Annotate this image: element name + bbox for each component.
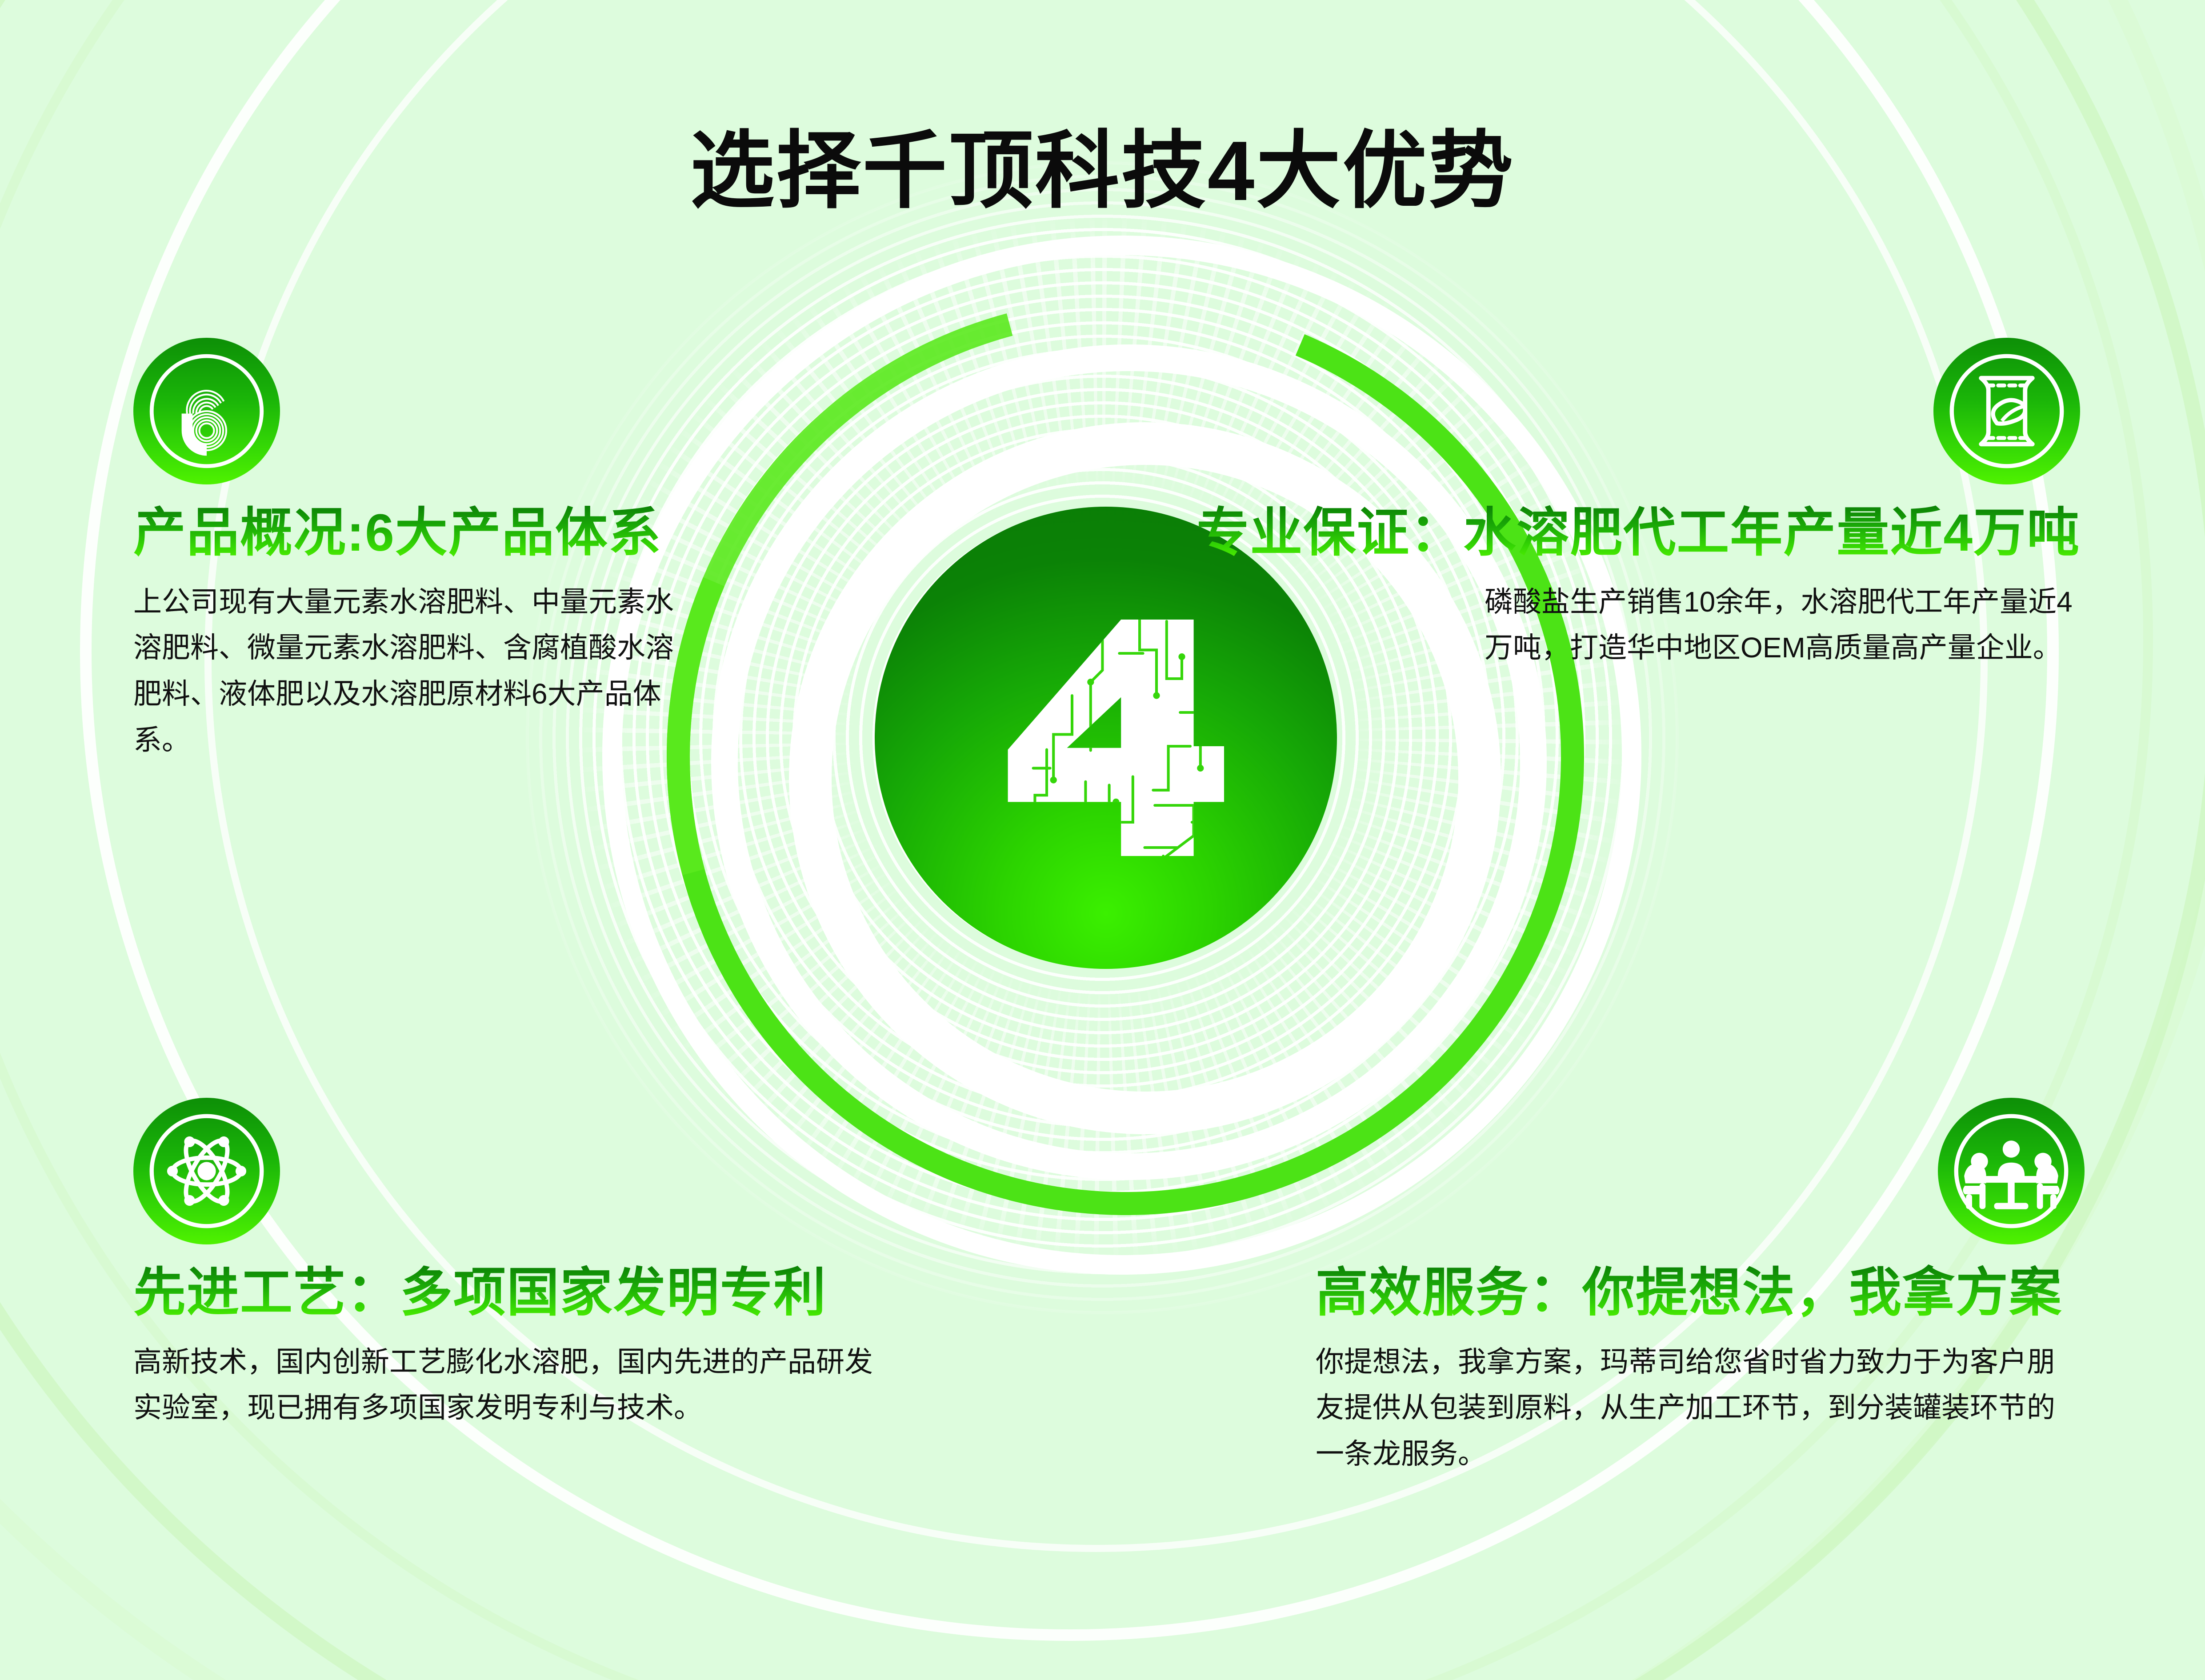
atom-icon (133, 1098, 280, 1244)
advantage-body: 上公司现有大量元素水溶肥料、中量元素水溶肥料、微量元素水溶肥料、含腐植酸水溶肥料… (133, 579, 689, 764)
advantage-heading: 产品概况:6大产品体系 (133, 503, 827, 563)
fertilizer-bag-icon (1933, 338, 2080, 484)
number-six-glyph (133, 338, 280, 484)
advantage-block-top-right: 专业保证：水溶肥代工年产量近4万吨 磷酸盐生产销售10余年，水溶肥代工年产量近4… (1191, 338, 2080, 671)
atom-glyph (133, 1098, 280, 1244)
advantage-body: 你提想法，我拿方案，玛蒂司给您省时省力致力于为客户朋友提供从包装到原料，从生产加… (1316, 1339, 2080, 1477)
advantage-block-bottom-left: 先进工艺：多项国家发明专利 高新技术，国内创新工艺膨化水溶肥，国内先进的产品研发… (133, 1098, 1022, 1431)
advantage-block-bottom-right: 高效服务：你提想法，我拿方案 你提想法，我拿方案，玛蒂司给您省时省力致力于为客户… (1316, 1098, 2085, 1477)
meeting-table-glyph (1938, 1098, 2085, 1244)
meeting-table-icon (1938, 1098, 2085, 1244)
advantage-body: 高新技术，国内创新工艺膨化水溶肥，国内先进的产品研发实验室，现已拥有多项国家发明… (133, 1339, 889, 1431)
fertilizer-bag-glyph (1933, 338, 2080, 484)
advantage-body: 磷酸盐生产销售10余年，水溶肥代工年产量近4万吨，打造华中地区OEM高质量高产量… (1485, 579, 2080, 671)
advantage-heading: 高效服务：你提想法，我拿方案 (1316, 1263, 2085, 1323)
page-title: 选择千顶科技4大优势 (0, 102, 2205, 224)
advantage-block-top-left: 产品概况:6大产品体系 上公司现有大量元素水溶肥料、中量元素水溶肥料、微量元素水… (133, 338, 827, 763)
number-six-circle-icon (133, 338, 280, 484)
advantage-heading: 先进工艺：多项国家发明专利 (133, 1263, 1022, 1323)
advantage-heading: 专业保证：水溶肥代工年产量近4万吨 (1191, 503, 2080, 563)
